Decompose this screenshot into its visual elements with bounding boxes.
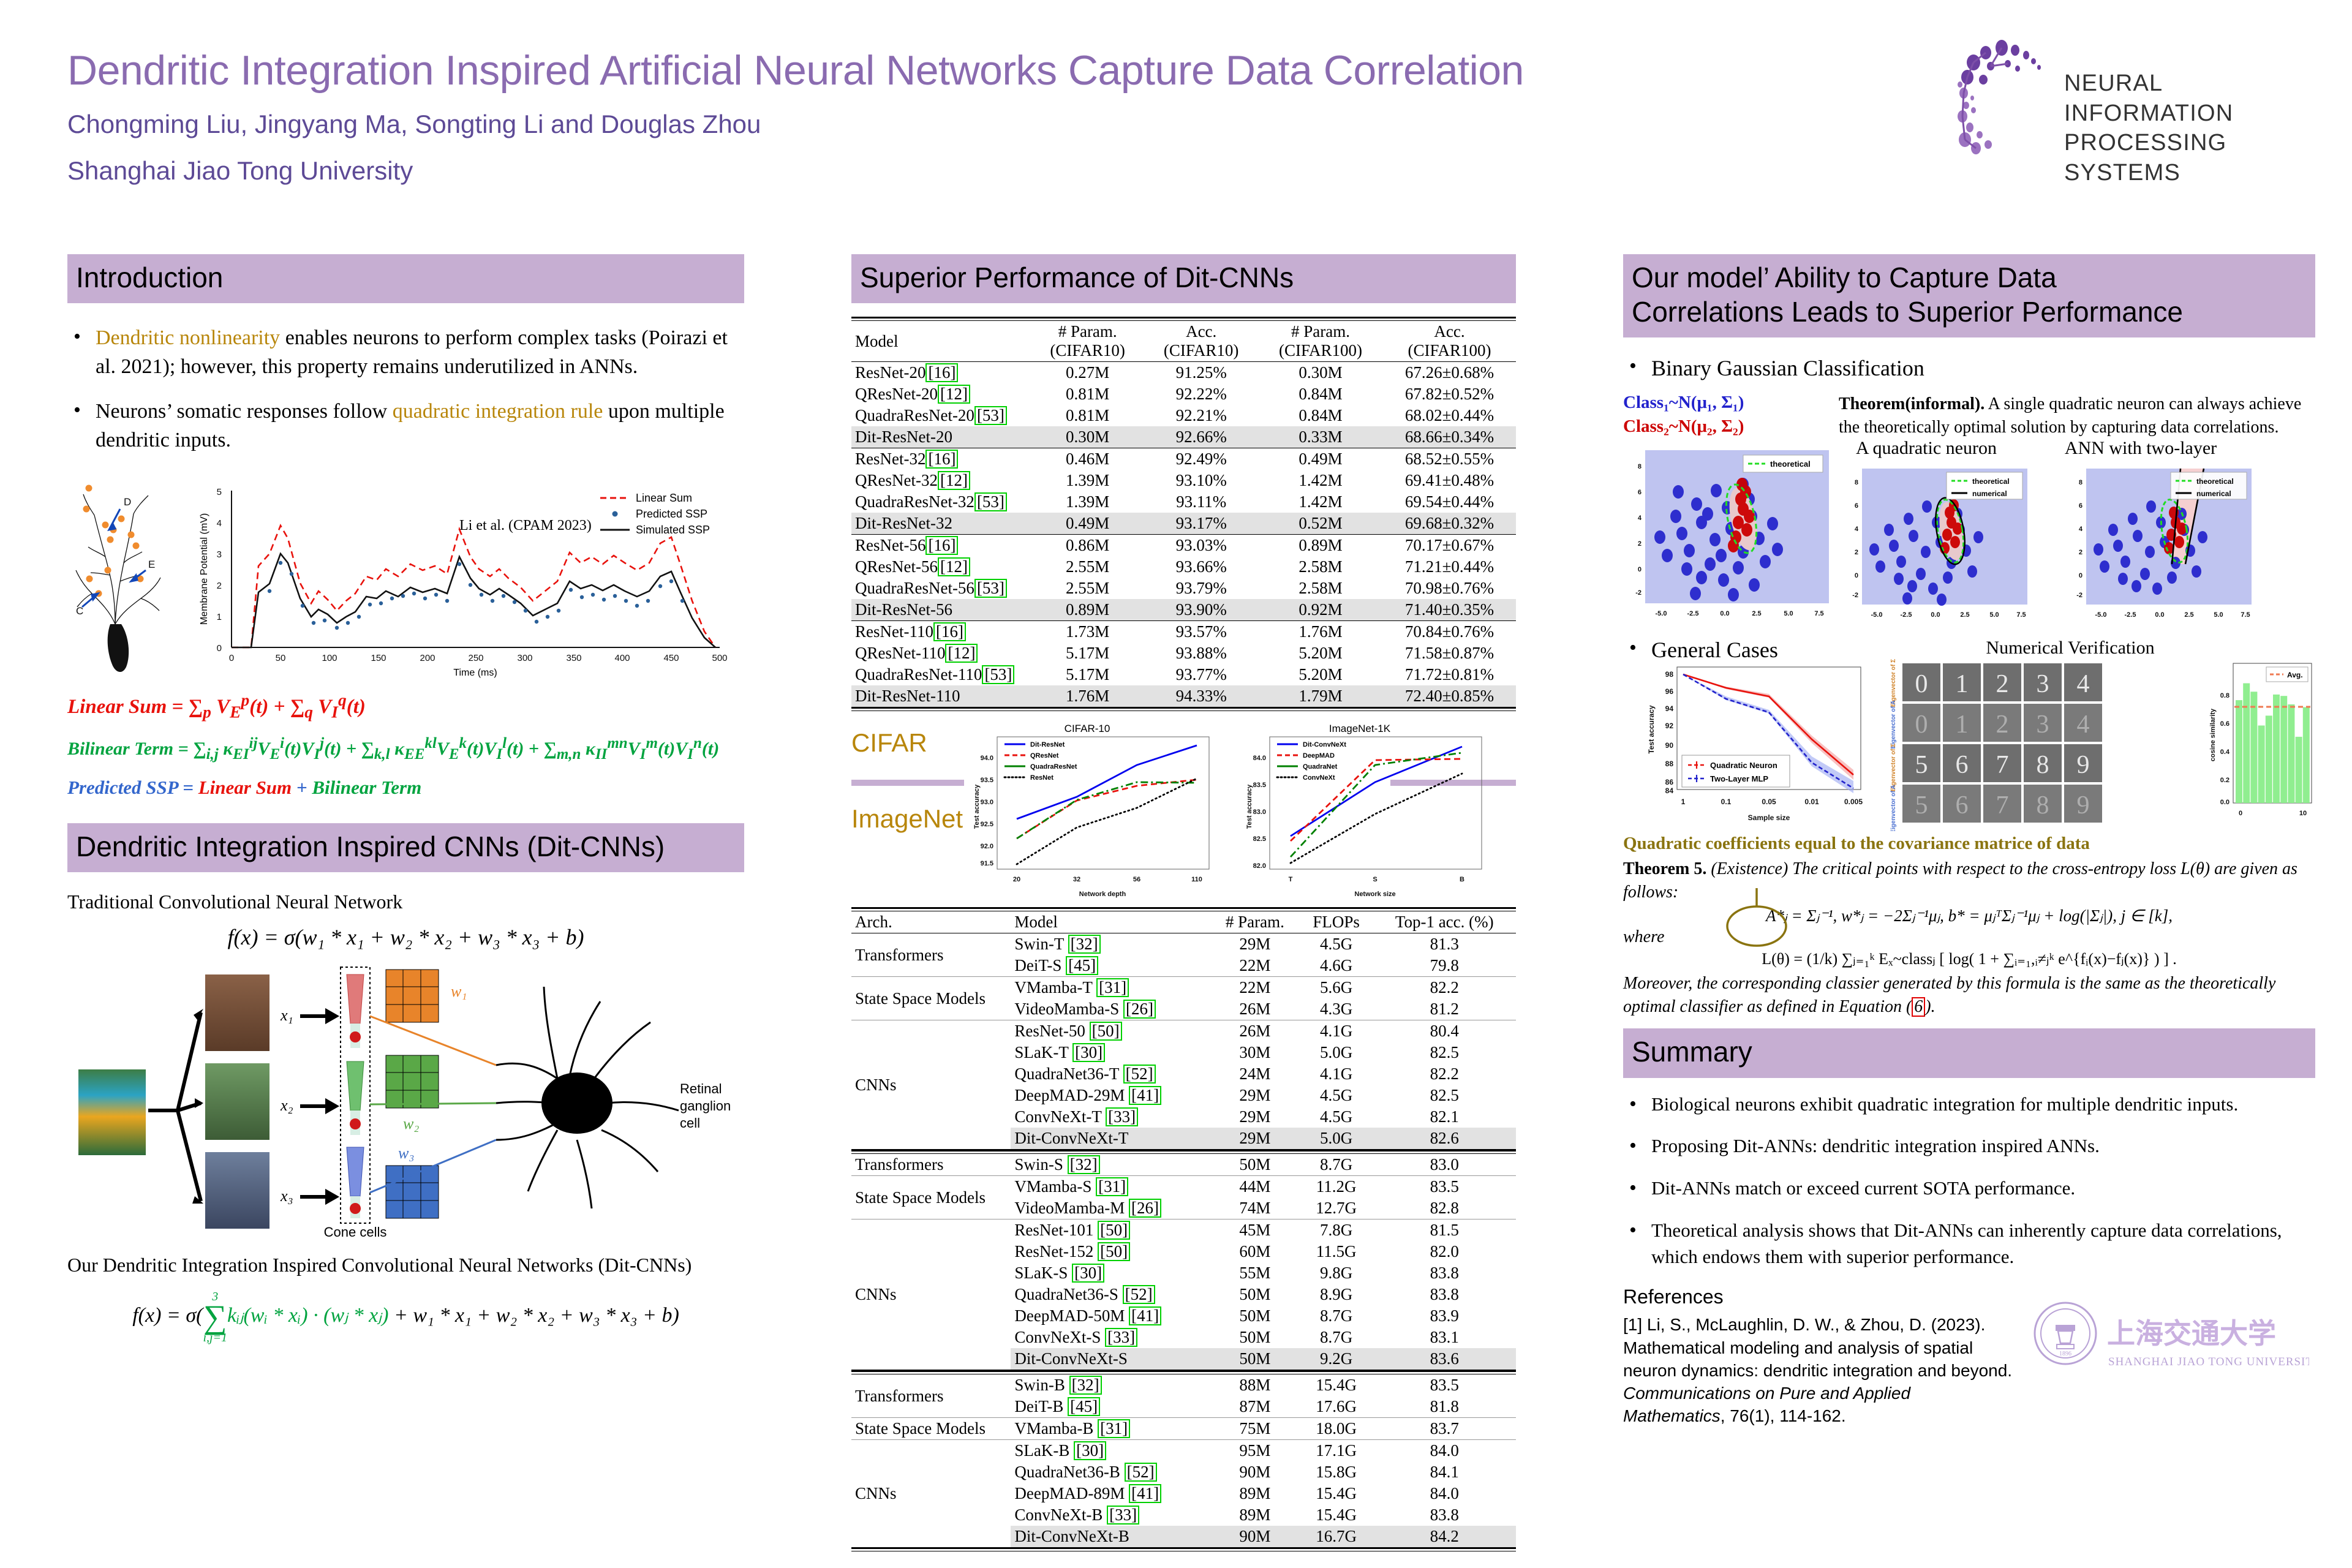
- svg-text:1: 1: [1681, 797, 1686, 806]
- cell-flops: 12.7G: [1300, 1197, 1373, 1219]
- sjtu-logo-icon: 1896 上海交通大学 SHANGHAI JIAO TONG UNIVERSIT…: [2027, 1298, 2309, 1378]
- section-header-capture: Our model’ Ability to Capture Data Corre…: [1623, 254, 2315, 337]
- series-quadraresnet: [1017, 782, 1197, 839]
- eigenvector-digit: 8: [2037, 791, 2049, 820]
- cell-acc: 81.8: [1373, 1396, 1516, 1418]
- cell-flops: 5.0G: [1300, 1128, 1373, 1150]
- label-cone-cells: Cone cells: [324, 1224, 387, 1240]
- citation-ref[interactable]: [33]: [1106, 1107, 1138, 1126]
- theorem5-moreover-a: Moreover, the corresponding classier gen…: [1623, 974, 2275, 1016]
- legend-resnet: ResNet: [1030, 774, 1053, 782]
- citation-ref[interactable]: [45]: [1068, 1397, 1100, 1416]
- cell-acc: 83.5: [1373, 1176, 1516, 1198]
- eigenvector-digit: 7: [1996, 791, 2009, 820]
- cell-param: 50M: [1210, 1348, 1300, 1371]
- theorem-informal-row: Class₁~N(μ₁, Σ₁) Class₂~N(μ₂, Σ₂) Theore…: [1623, 393, 2315, 439]
- cell-acc-c10: 93.57%: [1144, 621, 1258, 643]
- cell-flops: 8.7G: [1300, 1154, 1373, 1176]
- cell-acc-c10: 92.49%: [1144, 448, 1258, 470]
- cell-arch: Transformers: [851, 1154, 1011, 1176]
- list-item: Dit-ANNs match or exceed current SOTA pe…: [1623, 1175, 2315, 1202]
- cell-param: 45M: [1210, 1219, 1300, 1242]
- cell-param-c10: 1.39M: [1031, 470, 1145, 491]
- summary-bullets: Biological neurons exhibit quadratic int…: [1623, 1091, 2315, 1270]
- cell-param: 50M: [1210, 1327, 1300, 1348]
- cell-param-c10: 0.86M: [1031, 535, 1145, 557]
- introduction-bullets: Dendritic nonlinearity enables neurons t…: [67, 324, 744, 455]
- cell-model: Dit-ResNet-56: [851, 599, 1031, 621]
- legend-qresnet: QResNet: [1030, 752, 1059, 759]
- cell-acc-c100: 71.58±0.87%: [1383, 643, 1516, 664]
- label-rgc: Retinalganglioncell: [680, 1081, 731, 1131]
- table-row: TransformersSwin-T [32]29M4.5G81.3: [851, 933, 1516, 956]
- citation-ref[interactable]: [31]: [1096, 978, 1129, 997]
- th-param-c10: # Param. (CIFAR10): [1031, 321, 1145, 362]
- cell-param: 29M: [1210, 1106, 1300, 1128]
- legend-quadraresnet: QuadraResNet: [1030, 763, 1077, 771]
- svg-text:83.0: 83.0: [1253, 809, 1266, 816]
- cell-param-c100: 2.58M: [1258, 556, 1383, 578]
- cell-model: ResNet-20[16]: [851, 362, 1031, 384]
- cosine-bar: [2280, 696, 2287, 803]
- svg-text:84.0: 84.0: [1253, 755, 1266, 762]
- neurips-line-1: NEURAL INFORMATION: [2064, 69, 2334, 128]
- citation-ref[interactable]: [16]: [925, 536, 958, 555]
- cell-arch: CNNs: [851, 1020, 1011, 1151]
- citation-ref[interactable]: [16]: [933, 622, 966, 641]
- cell-param-c10: 0.81M: [1031, 405, 1145, 426]
- theorem5-moreover: Moreover, the corresponding classier gen…: [1623, 972, 2315, 1019]
- theorem5-equation: A*ⱼ = Σⱼ⁻¹, w*ⱼ = −2Σⱼ⁻¹μⱼ, b* = μⱼᵀΣⱼ⁻¹…: [1766, 907, 2173, 925]
- legend-predicted-ssp: Predicted SSP: [636, 508, 707, 520]
- cell-acc: 83.8: [1373, 1504, 1516, 1526]
- theorem5-equation-wrap: A*ⱼ = Σⱼ⁻¹, w*ⱼ = −2Σⱼ⁻¹μⱼ, b* = μⱼᵀΣⱼ⁻¹…: [1623, 907, 2315, 925]
- cell-acc-c10: 93.66%: [1144, 556, 1258, 578]
- cell-acc: 82.5: [1373, 1085, 1516, 1106]
- morph-label-C: C: [76, 605, 83, 617]
- eigenvector-grid: Eigenvector of Σ Eigenvector of A Eigenv…: [1887, 658, 2315, 831]
- legend-dit-resnet: Dit-ResNet: [1030, 741, 1065, 748]
- th-flops: FLOPs: [1300, 911, 1373, 933]
- legend-linear-sum: Linear Sum: [636, 492, 692, 504]
- cell-flops: 4.6G: [1300, 955, 1373, 977]
- citation-ref[interactable]: [26]: [1129, 1199, 1161, 1218]
- svg-text:-2.5: -2.5: [1901, 611, 1912, 619]
- cell-param: 22M: [1210, 977, 1300, 999]
- panel-title-ann: ANN with two-layer: [2046, 438, 2236, 459]
- table-row: QResNet-56[12]2.55M93.66%2.58M71.21±0.44…: [851, 556, 1516, 578]
- reference-1-b: , 76(1), 114-162.: [1721, 1406, 1846, 1425]
- svg-text:2: 2: [1855, 549, 1858, 556]
- citation-ref[interactable]: [31]: [1096, 1177, 1128, 1196]
- cell-model: Dit-ConvNeXt-S: [1011, 1348, 1210, 1371]
- cell-param: 50M: [1210, 1305, 1300, 1327]
- svg-text:93.0: 93.0: [981, 799, 993, 806]
- cosine-bar: [2258, 726, 2265, 804]
- svg-text:56: 56: [1133, 876, 1140, 883]
- cell-param: 24M: [1210, 1063, 1300, 1085]
- citation-ref[interactable]: [30]: [1072, 1264, 1104, 1283]
- sjtu-logo: 1896 上海交通大学 SHANGHAI JIAO TONG UNIVERSIT…: [2027, 1298, 2309, 1381]
- dendrite-trace-figure: D E C 01 23 45 050 100150 200250 300350: [67, 471, 744, 679]
- th-model: Model: [851, 321, 1031, 362]
- cell-model: VMamba-T [31]: [1011, 977, 1210, 999]
- label-w1: w₁: [451, 982, 467, 1000]
- table-row: ResNet-110[16]1.73M93.57%1.76M70.84±0.76…: [851, 621, 1516, 643]
- svg-text:0.0: 0.0: [1720, 610, 1729, 617]
- svg-text:0.2: 0.2: [2220, 777, 2229, 784]
- svg-text:0: 0: [229, 653, 234, 663]
- list-item: Biological neurons exhibit quadratic int…: [1623, 1091, 2315, 1118]
- cell-acc-c100: 68.52±0.55%: [1383, 448, 1516, 470]
- split-arrows-icon: [148, 1012, 201, 1201]
- svg-text:0.4: 0.4: [2220, 748, 2230, 756]
- section-header-ditcnns: Dendritic Integration Inspired CNNs (Dit…: [67, 823, 744, 872]
- citation-ref[interactable]: [31]: [1098, 1419, 1130, 1438]
- table-header-row: Arch. Model # Param. FLOPs Top-1 acc. (%…: [851, 911, 1516, 933]
- table-row: QuadraResNet-20[53]0.81M92.21%0.84M68.02…: [851, 405, 1516, 426]
- theorem5-existence: (Existence): [1706, 859, 1788, 878]
- svg-text:8: 8: [1855, 479, 1858, 486]
- svg-text:6: 6: [1855, 502, 1858, 510]
- svg-text:7.5: 7.5: [1814, 610, 1823, 617]
- table-row: QResNet-110[12]5.17M93.88%5.20M71.58±0.8…: [851, 643, 1516, 664]
- cell-model: ConvNeXt-S [33]: [1011, 1327, 1210, 1348]
- gold-note: Quadratic coefficients equal to the cova…: [1623, 834, 2315, 854]
- scatter-panel-3: 86 42 0-2 -5.0-2.5 0.02.5 5.07.5 theoret…: [2076, 469, 2252, 619]
- cell-acc-c100: 67.82±0.52%: [1383, 383, 1516, 405]
- cell-param: 29M: [1210, 1085, 1300, 1106]
- citation-ref[interactable]: [52]: [1125, 1463, 1157, 1482]
- retina-cnn-diagram: x₁ x₂ x₃: [67, 956, 744, 1250]
- table-row: CNNsSLaK-B [30]95M17.1G84.0: [851, 1440, 1516, 1462]
- neurips-wordmark: NEURAL INFORMATION PROCESSING SYSTEMS: [2064, 69, 2334, 188]
- cell-param-c10: 5.17M: [1031, 643, 1145, 664]
- cell-model: SLaK-B [30]: [1011, 1440, 1210, 1462]
- cell-flops: 8.7G: [1300, 1305, 1373, 1327]
- trace-ylabel: Membrane Potential (mV): [199, 513, 209, 625]
- cell-model: ResNet-32[16]: [851, 448, 1031, 470]
- series-convnext: [1291, 774, 1462, 863]
- cell-acc-c10: 91.25%: [1144, 362, 1258, 384]
- citation-ref[interactable]: [12]: [938, 385, 970, 404]
- legend-convnext: ConvNeXt: [1303, 774, 1335, 782]
- cell-param-c100: 5.20M: [1258, 643, 1383, 664]
- citation-ref[interactable]: [53]: [974, 492, 1007, 511]
- legend-theoretical-3: theoretical: [2196, 477, 2234, 486]
- citation-ref[interactable]: [50]: [1098, 1221, 1130, 1240]
- cell-model: QuadraNet36-T [52]: [1011, 1063, 1210, 1085]
- cell-acc-c100: 68.66±0.34%: [1383, 426, 1516, 448]
- svg-text:5.0: 5.0: [1784, 610, 1793, 617]
- eq-label-bilinear-2: Bilinear Term: [312, 777, 421, 798]
- citation-ref[interactable]: [41]: [1129, 1086, 1161, 1105]
- cell-param: 29M: [1210, 1128, 1300, 1150]
- svg-text:93.5: 93.5: [981, 777, 993, 784]
- cell-model: DeiT-S [45]: [1011, 955, 1210, 977]
- eq-ours-green: kᵢⱼ(wᵢ * xᵢ) · (wⱼ * xⱼ): [227, 1305, 388, 1327]
- cell-flops: 15.8G: [1300, 1461, 1373, 1483]
- svg-text:150: 150: [371, 653, 386, 663]
- cell-flops: 11.2G: [1300, 1176, 1373, 1198]
- citation-ref[interactable]: [12]: [938, 471, 970, 490]
- cell-flops: 18.0G: [1300, 1418, 1373, 1440]
- cell-acc: 82.8: [1373, 1197, 1516, 1219]
- neurips-swirl-icon: [1954, 37, 2064, 159]
- cell-acc: 82.1: [1373, 1106, 1516, 1128]
- table-row: State Space ModelsVMamba-T [31]22M5.6G82…: [851, 977, 1516, 999]
- citation-ref[interactable]: [53]: [974, 579, 1007, 598]
- cell-acc-c10: 93.90%: [1144, 599, 1258, 621]
- citation-ref[interactable]: [32]: [1069, 1376, 1102, 1395]
- general-cases-line-chart: 9896 9492 9088 8684 10.1 0.050.01 0.005 …: [1629, 662, 1887, 831]
- svg-text:1896: 1896: [2059, 1351, 2071, 1357]
- numerical-verification-title: Numerical Verification: [1942, 638, 2199, 658]
- theorem-informal-bold: Theorem(informal).: [1839, 394, 1985, 413]
- cell-param: 90M: [1210, 1526, 1300, 1548]
- svg-text:250: 250: [468, 653, 483, 663]
- th-acc-c100: Acc. (CIFAR100): [1383, 321, 1516, 362]
- svg-text:-5.0: -5.0: [2095, 611, 2107, 619]
- column-middle: Superior Performance of Dit-CNNs Model #…: [851, 254, 1516, 1551]
- accuracy-charts-row: CIFAR ImageNet CIFAR-10 94.093.5 93.092.…: [851, 721, 1516, 905]
- cell-acc: 82.0: [1373, 1241, 1516, 1262]
- cell-acc: 83.0: [1373, 1154, 1516, 1176]
- svg-text:1: 1: [217, 612, 222, 622]
- eq-label-predicted: Predicted SSP: [67, 777, 178, 798]
- eq-ours-sum: ∑: [203, 1302, 227, 1332]
- theorem5-moreover-b: ).: [1925, 997, 1935, 1016]
- citation-ref[interactable]: [41]: [1129, 1484, 1161, 1503]
- eigenvector-digit: 0: [1915, 710, 1928, 739]
- legend-numerical-3: numerical: [2196, 489, 2231, 498]
- cell-model: ResNet-152 [50]: [1011, 1241, 1210, 1262]
- trace-linear-sum: [232, 526, 715, 647]
- intro-b2-pre: Neurons’ somatic responses follow: [96, 400, 393, 423]
- legend-two-layer-mlp: Two-Layer MLP: [1710, 774, 1768, 783]
- cell-model: QuadraNet36-S [52]: [1011, 1284, 1210, 1305]
- citation-ref[interactable]: [50]: [1090, 1022, 1122, 1041]
- cell-param-c100: 2.58M: [1258, 578, 1383, 599]
- list-item: Binary Gaussian Classification: [1623, 353, 2315, 384]
- citation-ref[interactable]: [33]: [1107, 1506, 1139, 1525]
- poster-header: Dendritic Integration Inspired Artificia…: [67, 49, 1966, 186]
- cell-param: 87M: [1210, 1396, 1300, 1418]
- svg-text:94: 94: [1665, 704, 1674, 713]
- eigenvector-digit: 3: [2037, 710, 2049, 739]
- svg-text:4: 4: [2079, 526, 2083, 533]
- svg-text:94.0: 94.0: [981, 755, 993, 762]
- list-item: Proposing Dit-ANNs: dendritic integratio…: [1623, 1133, 2315, 1159]
- cell-flops: 9.8G: [1300, 1262, 1373, 1284]
- citation-ref[interactable]: [45]: [1066, 956, 1098, 975]
- scatter-svg: 86 42 0-2 -5.0-2.5 0.02.5 5.07.5 theoret…: [1623, 448, 2315, 631]
- label-x1: x₁: [280, 1006, 293, 1024]
- citation-ref[interactable]: [33]: [1105, 1328, 1137, 1347]
- table-row: ResNet-32[16]0.46M92.49%0.49M68.52±0.55%: [851, 448, 1516, 470]
- cell-flops: 17.6G: [1300, 1396, 1373, 1418]
- series-deepmad: [1291, 759, 1462, 841]
- cell-acc-c10: 92.22%: [1144, 383, 1258, 405]
- neurips-logo: NEURAL INFORMATION PROCESSING SYSTEMS: [1954, 37, 2334, 159]
- svg-text:92.5: 92.5: [981, 821, 993, 828]
- citation-ref[interactable]: [53]: [974, 406, 1007, 425]
- table-row: QResNet-32[12]1.39M93.10%1.42M69.41±0.48…: [851, 470, 1516, 491]
- eig-row-label-3: Eigenvector of A: [1890, 785, 1897, 832]
- svg-text:T: T: [1289, 876, 1293, 883]
- intro-b1-highlight: Dendritic nonlinearity: [96, 326, 280, 349]
- morph-label-E: E: [148, 559, 155, 570]
- legend-theoretical-2: theoretical: [1972, 477, 2010, 486]
- citation-ref[interactable]: [16]: [925, 363, 958, 382]
- cell-arch: CNNs: [851, 1440, 1011, 1548]
- svg-text:2: 2: [1638, 540, 1642, 548]
- svg-text:82.0: 82.0: [1253, 862, 1266, 870]
- cell-param: 29M: [1210, 933, 1300, 956]
- cell-model: QuadraResNet-32[53]: [851, 491, 1031, 513]
- svg-text:32: 32: [1073, 876, 1080, 883]
- affiliation: Shanghai Jiao Tong University: [67, 156, 1966, 186]
- citation-ref[interactable]: [53]: [982, 665, 1014, 684]
- cell-flops: 4.5G: [1300, 1106, 1373, 1128]
- svg-text:3: 3: [217, 549, 222, 560]
- svg-text:100: 100: [322, 653, 337, 663]
- channel-image-blue: [205, 1152, 269, 1229]
- references-block: References [1] Li, S., McLaughlin, D. W.…: [1623, 1286, 2315, 1427]
- svg-text:0: 0: [2079, 572, 2082, 579]
- traditional-cnn-subhead: Traditional Convolutional Neural Network: [67, 891, 744, 913]
- cell-param: 50M: [1210, 1154, 1300, 1176]
- cell-acc: 81.5: [1373, 1219, 1516, 1242]
- citation-ref[interactable]: [52]: [1123, 1065, 1156, 1084]
- cell-acc-c100: 69.68±0.32%: [1383, 513, 1516, 535]
- theorem5-block: Quadratic coefficients equal to the cova…: [1623, 834, 2315, 1019]
- eigenvector-digit: 6: [1956, 751, 1969, 779]
- cell-acc-c10: 93.79%: [1144, 578, 1258, 599]
- citation-ref[interactable]: [30]: [1074, 1441, 1106, 1460]
- cell-acc-c100: 71.72±0.81%: [1383, 664, 1516, 685]
- cell-param-c10: 2.55M: [1031, 556, 1145, 578]
- cell-param: 55M: [1210, 1262, 1300, 1284]
- cell-acc-c100: 69.41±0.48%: [1383, 470, 1516, 491]
- cell-param-c10: 0.89M: [1031, 599, 1145, 621]
- eigenvector-digit: 4: [2077, 670, 2090, 698]
- citation-ref[interactable]: [30]: [1072, 1043, 1105, 1062]
- svg-text:Test accuracy: Test accuracy: [973, 784, 981, 829]
- capture-title-l1: Our model’ Ability to Capture Data: [1632, 260, 2307, 295]
- citation-ref[interactable]: [32]: [1068, 1155, 1100, 1174]
- class1-label: Class₁~N(μ₁, Σ₁): [1623, 393, 1825, 413]
- svg-text:0: 0: [1855, 572, 1858, 579]
- cell-acc-c10: 93.10%: [1144, 470, 1258, 491]
- conn-w2: [370, 1103, 496, 1104]
- cell-model: QuadraResNet-110[53]: [851, 664, 1031, 685]
- kernel-w3: w₃: [386, 1144, 439, 1218]
- cell-flops: 16.7G: [1300, 1526, 1373, 1548]
- cell-flops: 15.4G: [1300, 1504, 1373, 1526]
- th-top1: Top-1 acc. (%): [1373, 911, 1516, 933]
- th-arch: Arch.: [851, 911, 1011, 933]
- cell-acc: 81.3: [1373, 933, 1516, 956]
- cell-acc-c10: 93.88%: [1144, 643, 1258, 664]
- cell-model: Dit-ConvNeXt-B: [1011, 1526, 1210, 1548]
- eigenvector-digit: 2: [1996, 710, 2009, 739]
- label-x2: x₂: [280, 1096, 293, 1114]
- svg-text:Test accuracy: Test accuracy: [1246, 784, 1253, 829]
- svg-text:5.0: 5.0: [2214, 611, 2223, 619]
- side-label-imagenet: ImageNet: [851, 804, 963, 834]
- citation-ref[interactable]: [52]: [1123, 1285, 1155, 1304]
- list-item: Neurons’ somatic responses follow quadra…: [67, 398, 744, 455]
- cell-model: VideoMamba-S [26]: [1011, 998, 1210, 1020]
- cell-param: 60M: [1210, 1241, 1300, 1262]
- trace-legend: Linear Sum Predicted SSP Simulated SSP: [600, 492, 710, 536]
- citation-ref[interactable]: [12]: [945, 644, 978, 663]
- author-list: Chongming Liu, Jingyang Ma, Songting Li …: [67, 110, 1966, 139]
- cell-flops: 8.9G: [1300, 1284, 1373, 1305]
- svg-text:Test accuracy: Test accuracy: [1647, 705, 1656, 753]
- cell-model: Dit-ResNet-110: [851, 685, 1031, 708]
- general-cases-bullet: General Cases: [1623, 635, 1778, 666]
- svg-text:98: 98: [1665, 670, 1674, 679]
- section-header-introduction: Introduction: [67, 254, 744, 303]
- divider-band-left: [851, 780, 964, 786]
- svg-text:-2: -2: [1635, 589, 1642, 597]
- svg-text:-5.0: -5.0: [1656, 610, 1667, 617]
- general-cases-row: General Cases Numerical Verification 989…: [1623, 635, 2315, 831]
- legend-numerical-2: numerical: [1972, 489, 2007, 498]
- cell-model: Dit-ResNet-20: [851, 426, 1031, 448]
- eig-row-label-0: Eigenvector of Σ: [1890, 659, 1897, 707]
- cell-param: 75M: [1210, 1418, 1300, 1440]
- cell-acc-c10: 92.21%: [1144, 405, 1258, 426]
- citation-ref[interactable]: [16]: [925, 450, 958, 469]
- cell-model: SLaK-T [30]: [1011, 1042, 1210, 1063]
- cell-model: QuadraResNet-20[53]: [851, 405, 1031, 426]
- svg-text:5.0: 5.0: [1989, 611, 1999, 619]
- scatter-panel-1: 86 42 0-2 -5.0-2.5 0.02.5 5.07.5 theoret…: [1635, 450, 1829, 617]
- cifar10-line-chart: CIFAR-10 94.093.5 93.092.5 92.091.5 2032…: [962, 721, 1225, 905]
- cell-acc-c100: 71.21±0.44%: [1383, 556, 1516, 578]
- citation-ref[interactable]: [32]: [1068, 935, 1101, 954]
- svg-text:200: 200: [420, 653, 435, 663]
- trace-xlabel: Time (ms): [453, 668, 497, 678]
- eig-row-label-1: Eigenvector of A: [1890, 701, 1897, 749]
- svg-text:88: 88: [1665, 759, 1674, 768]
- cell-param: 44M: [1210, 1176, 1300, 1198]
- cell-param-c10: 1.76M: [1031, 685, 1145, 708]
- svg-text:10: 10: [2299, 810, 2307, 817]
- citation-ref[interactable]: [50]: [1098, 1242, 1130, 1261]
- citation-ref[interactable]: [12]: [938, 557, 970, 576]
- side-label-cifar: CIFAR: [851, 728, 927, 758]
- cell-acc: 84.0: [1373, 1440, 1516, 1462]
- cell-flops: 5.6G: [1300, 977, 1373, 999]
- cell-flops: 4.1G: [1300, 1063, 1373, 1085]
- svg-text:82.5: 82.5: [1253, 835, 1266, 843]
- gaussian-scatter-panels: A quadratic neuron ANN with two-layer: [1623, 448, 2315, 631]
- svg-text:500: 500: [712, 653, 727, 663]
- legend-avg: Avg.: [2287, 671, 2303, 679]
- cell-param-c100: 5.20M: [1258, 664, 1383, 685]
- cell-acc-c10: 93.11%: [1144, 491, 1258, 513]
- citation-ref[interactable]: [26]: [1123, 1000, 1156, 1019]
- cell-param-c100: 0.92M: [1258, 599, 1383, 621]
- cell-model: Swin-S [32]: [1011, 1154, 1210, 1176]
- citation-ref[interactable]: [41]: [1129, 1306, 1161, 1325]
- cell-model: Swin-T [32]: [1011, 933, 1210, 956]
- svg-text:8: 8: [1638, 463, 1642, 470]
